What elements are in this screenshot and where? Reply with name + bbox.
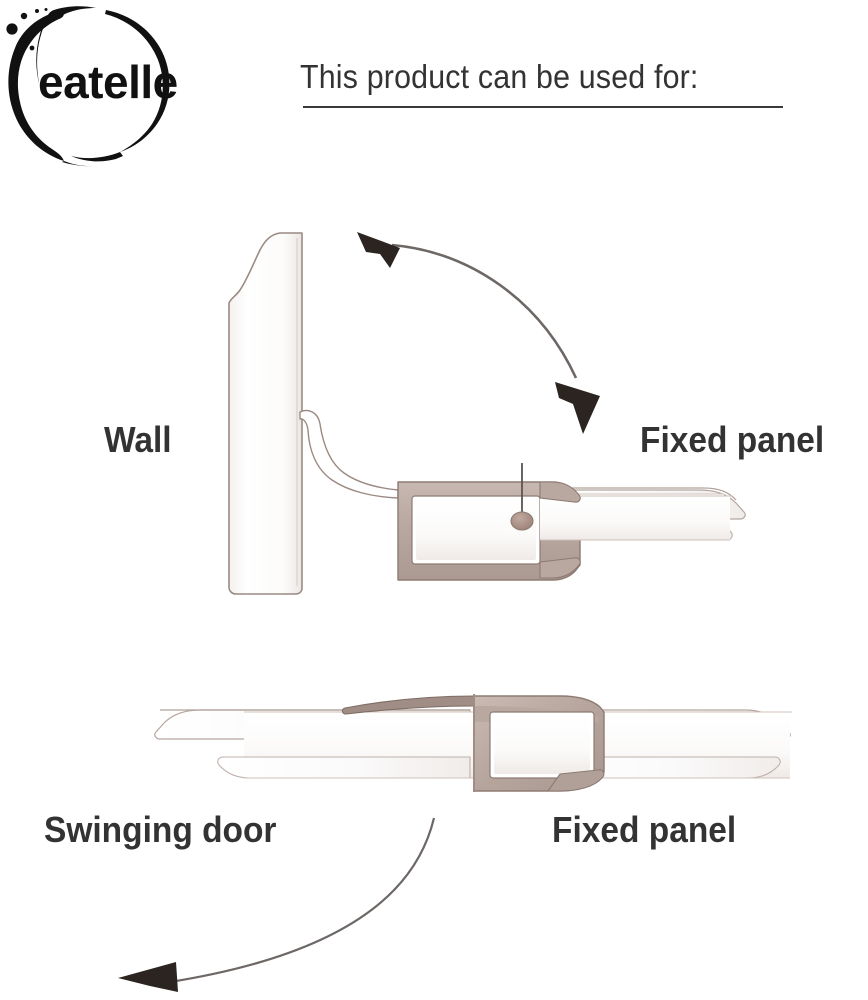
brand-logo: eatelle xyxy=(2,4,192,169)
brand-wordmark: eatelle xyxy=(38,56,178,108)
page-title: This product can be used for: xyxy=(300,58,800,96)
seal-strip xyxy=(300,411,398,499)
swinging-door-lower xyxy=(218,757,470,778)
label-wall: Wall xyxy=(104,422,172,458)
label-fixed-panel-top: Fixed panel xyxy=(640,422,824,458)
hinge-bracket xyxy=(398,482,580,580)
label-swinging-door: Swinging door xyxy=(44,812,276,848)
page-title-text: This product can be used for: xyxy=(300,58,699,96)
swinging-door-panel xyxy=(155,710,470,739)
double-headed-curved-arrow-icon xyxy=(357,232,600,434)
pivot-pin xyxy=(511,512,533,530)
diagram-wall-to-fixed-panel xyxy=(229,232,745,594)
glass-panel xyxy=(470,490,745,519)
hinge-bracket-bottom xyxy=(474,696,604,791)
bracket-window-bottom xyxy=(490,712,594,778)
product-usage-infographic: eatelle This product can be used for: xyxy=(0,0,868,1000)
label-fixed-panel-bottom: Fixed panel xyxy=(552,812,736,848)
glass-panel-lower xyxy=(470,519,732,540)
page-title-underline xyxy=(303,106,783,108)
fixed-panel xyxy=(540,710,790,739)
wall-panel xyxy=(229,233,302,594)
bracket-window xyxy=(412,496,540,564)
